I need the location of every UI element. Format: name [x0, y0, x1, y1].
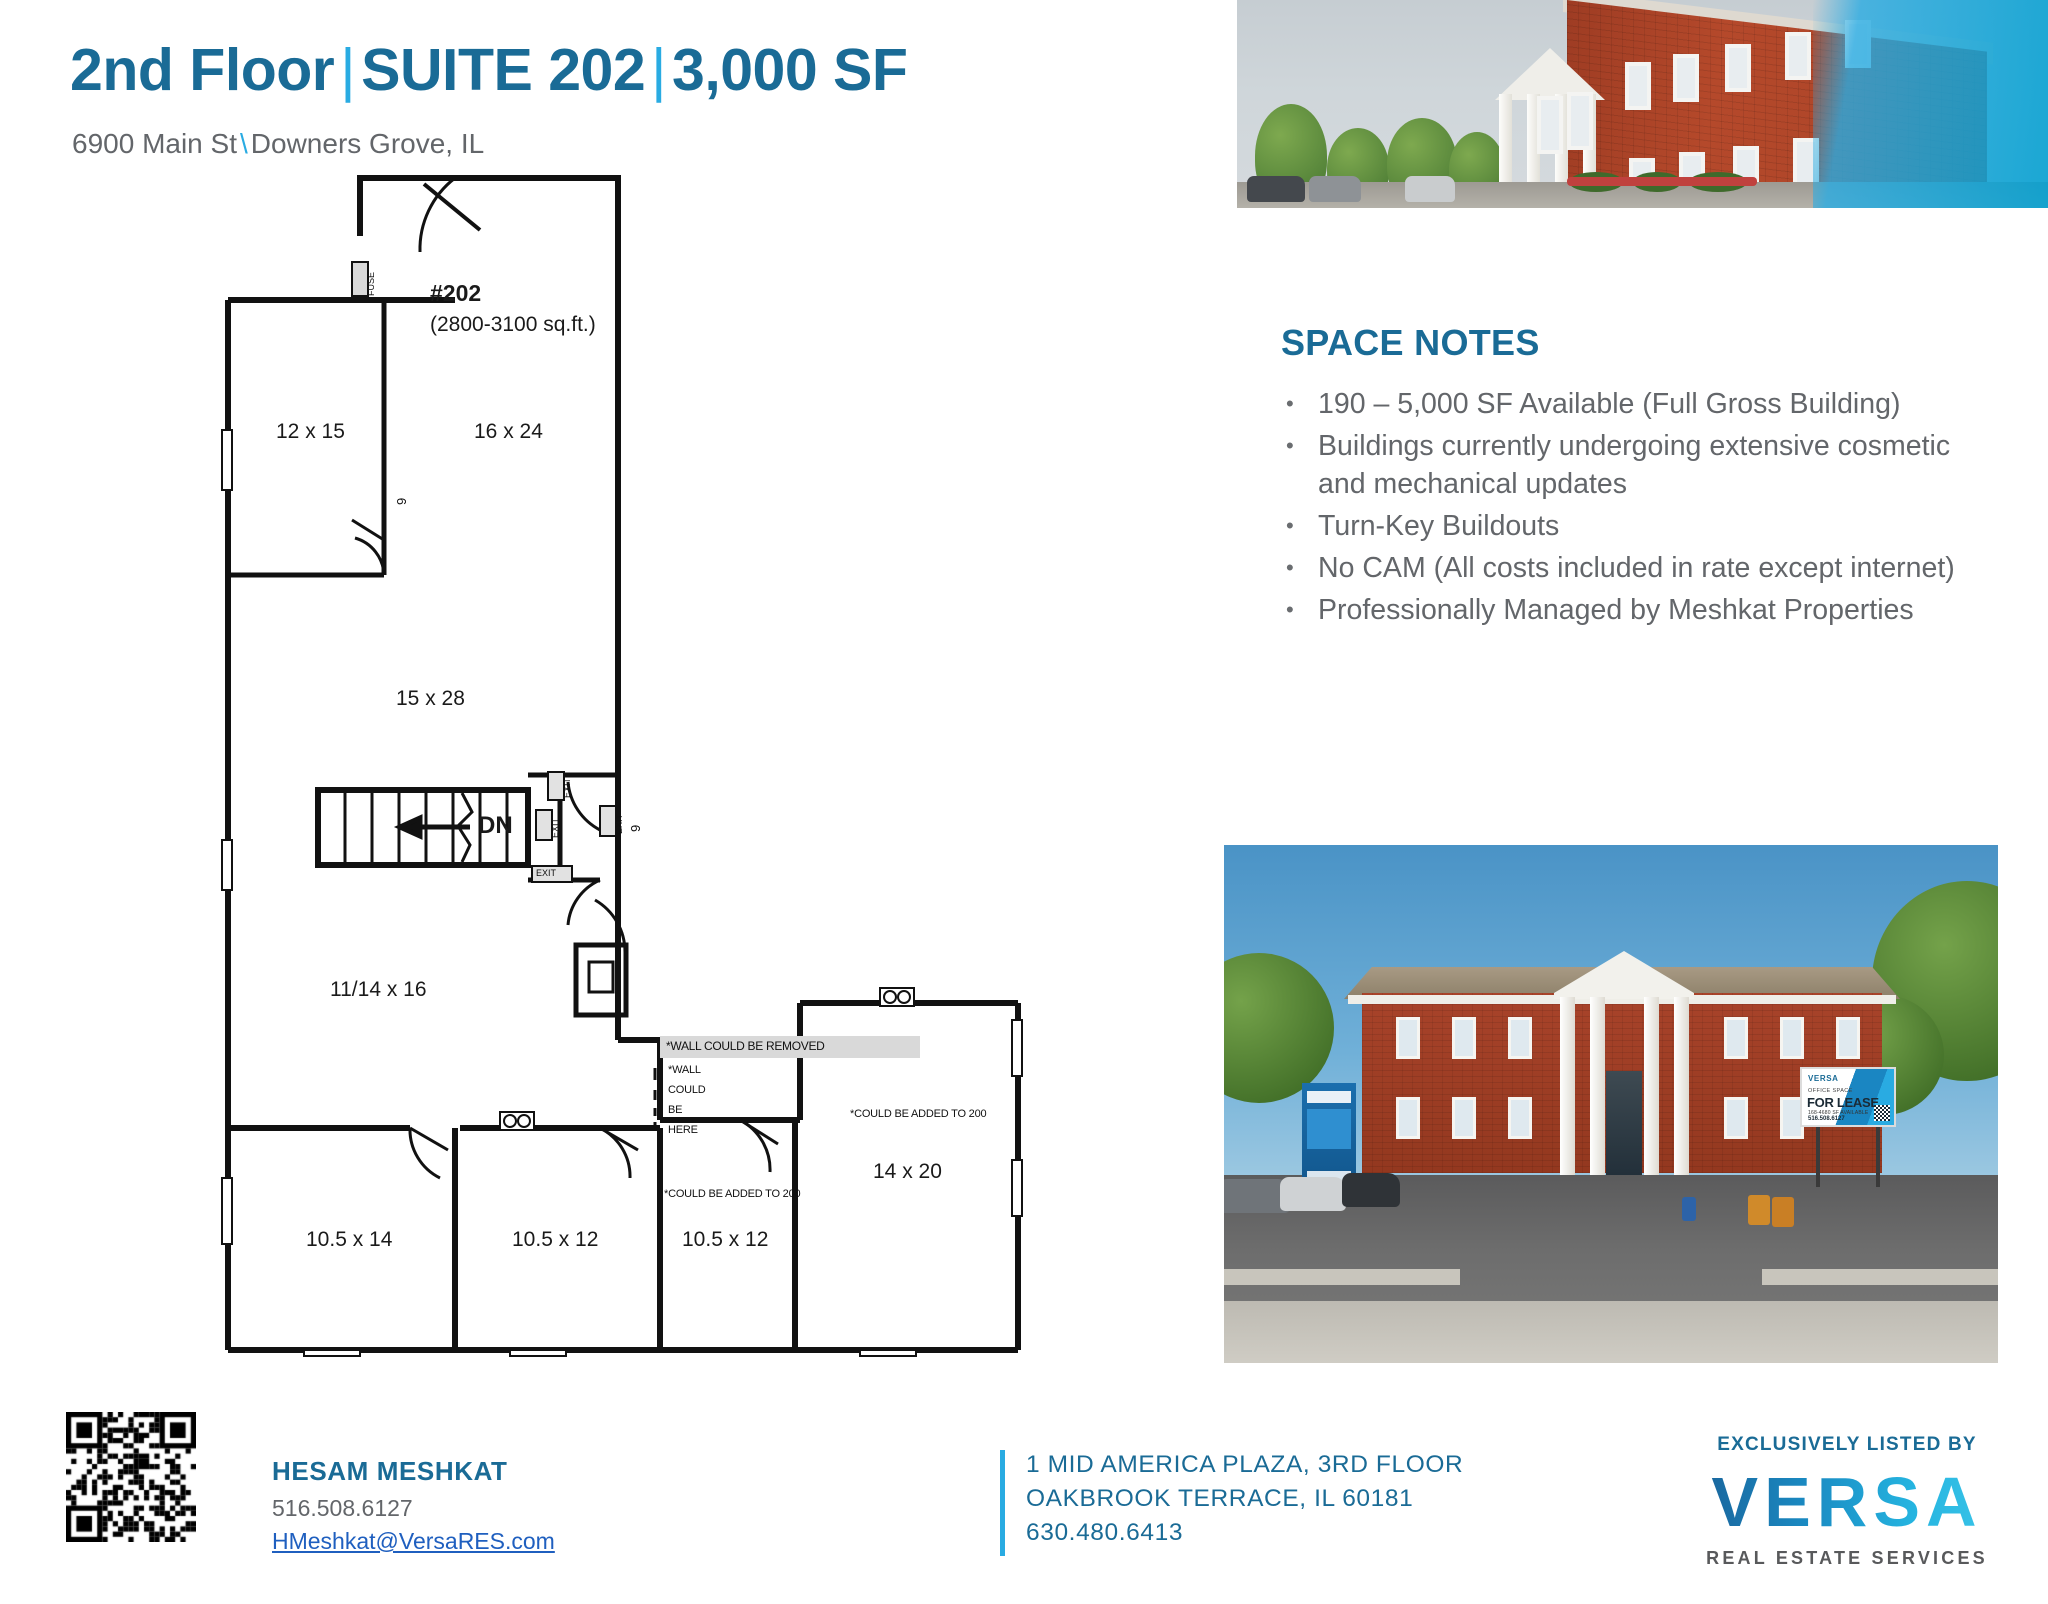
floor-plan-drawing	[0, 0, 1100, 1400]
window	[1452, 1017, 1476, 1059]
dimension-9-b: 9	[628, 825, 643, 832]
qr-code-icon	[1874, 1105, 1890, 1121]
window	[1724, 1097, 1748, 1139]
window	[1836, 1017, 1860, 1059]
sidewalk	[1224, 1301, 1998, 1363]
list-item: • Buildings currently undergoing extensi…	[1272, 427, 1962, 503]
note-text: Turn-Key Buildouts	[1318, 507, 1559, 545]
exit-label: EXIT	[614, 814, 624, 834]
window	[1567, 92, 1593, 150]
window	[1508, 1017, 1532, 1059]
contact-phone: 516.508.6127	[272, 1495, 413, 1522]
annotation-could-be-added-200-a: *COULD BE ADDED TO 200	[664, 1188, 800, 1200]
sign-post	[1876, 1123, 1880, 1187]
car	[1342, 1173, 1400, 1207]
note-text: Professionally Managed by Meshkat Proper…	[1318, 591, 1914, 629]
note-text: No CAM (All costs included in rate excep…	[1318, 549, 1955, 587]
sign-phone: 516.508.6127	[1808, 1116, 1845, 1122]
company-address: 1 MID AMERICA PLAZA, 3RD FLOOR OAKBROOK …	[1026, 1448, 1463, 1550]
column	[1674, 997, 1689, 1175]
list-item: • Professionally Managed by Meshkat Prop…	[1272, 591, 1962, 629]
list-item: • Turn-Key Buildouts	[1272, 507, 1962, 545]
window	[1785, 32, 1811, 80]
suite-number-label: #202	[430, 280, 481, 307]
space-notes-list: • 190 – 5,000 SF Available (Full Gross B…	[1272, 385, 1962, 633]
car	[1247, 176, 1305, 202]
room-label-12x15: 12 x 15	[276, 420, 345, 444]
window	[1780, 1017, 1804, 1059]
versa-tagline: REAL ESTATE SERVICES	[1682, 1548, 2012, 1569]
bullet-icon: •	[1272, 549, 1318, 587]
annotation-wall-could-be-removed: *WALL COULD BE REMOVED	[664, 1038, 827, 1054]
window	[1625, 62, 1651, 110]
car	[1280, 1177, 1346, 1211]
entrance-door	[1606, 1071, 1642, 1175]
suite-size-label: (2800-3100 sq.ft.)	[430, 313, 596, 337]
window	[1396, 1097, 1420, 1139]
window	[1508, 1097, 1532, 1139]
window	[1452, 1097, 1476, 1139]
pediment	[1554, 951, 1694, 999]
flyer-page: 2nd Floor|SUITE 202|3,000 SF 6900 Main S…	[0, 0, 2048, 1604]
sign-post	[1816, 1123, 1820, 1187]
portico	[1554, 951, 1694, 1173]
curb	[1224, 1269, 1460, 1285]
room-label-16x24: 16 x 24	[474, 420, 543, 444]
fuse-label: FUSE	[366, 272, 376, 296]
column	[1560, 997, 1575, 1175]
window	[1724, 1017, 1748, 1059]
list-item: • No CAM (All costs included in rate exc…	[1272, 549, 1962, 587]
sign-band	[1307, 1091, 1351, 1103]
column	[1590, 997, 1605, 1175]
column	[1644, 997, 1659, 1175]
contact-email-link[interactable]: HMeshkat@VersaRES.com	[272, 1528, 555, 1555]
annotation-wall: *WALL	[668, 1064, 701, 1076]
sign-panel	[1307, 1109, 1351, 1149]
exit-label: EXIT	[550, 818, 560, 838]
window	[1537, 96, 1563, 154]
floor-plan: #202 (2800-3100 sq.ft.) 12 x 15 16 x 24 …	[0, 0, 1100, 1400]
building-photo-top	[1237, 0, 2048, 208]
exit-label: EXIT	[536, 868, 556, 878]
flower-bed	[1567, 177, 1757, 186]
room-label-14x20: 14 x 20	[873, 1160, 942, 1184]
curb	[1762, 1269, 1998, 1285]
cyan-gradient-overlay	[1813, 0, 2048, 208]
annotation-here: HERE	[668, 1124, 698, 1136]
space-notes-heading: SPACE NOTES	[1281, 322, 1540, 364]
mailbox	[1748, 1195, 1770, 1225]
contact-name: HESAM MESHKAT	[272, 1456, 508, 1487]
stair-direction-arrow	[400, 818, 470, 836]
sign-for-lease: FOR LEASE	[1807, 1095, 1879, 1110]
annotation-be: BE	[668, 1104, 682, 1116]
for-lease-sign: VERSA OFFICE SPACE FOR LEASE 168-4680 SF…	[1800, 1067, 1896, 1127]
exclusively-listed-by-label: EXCLUSIVELY LISTED BY	[1682, 1434, 2012, 1456]
exit-sign-icon	[532, 772, 616, 882]
room-label-15x28: 15 x 28	[396, 687, 465, 711]
annotation-could-be-added-200-b: *COULD BE ADDED TO 200	[850, 1108, 986, 1120]
bullet-icon: •	[1272, 507, 1318, 545]
car	[1405, 176, 1455, 202]
window	[1673, 54, 1699, 102]
list-item: • 190 – 5,000 SF Available (Full Gross B…	[1272, 385, 1962, 423]
sign-brand: VERSA	[1808, 1074, 1839, 1083]
exit-label: EXIT	[562, 778, 572, 798]
qr-code[interactable]	[66, 1412, 196, 1542]
window	[1725, 44, 1751, 92]
room-label-11-14x16: 11/14 x 16	[330, 978, 427, 1002]
address-line-2: OAKBROOK TERRACE, IL 60181	[1026, 1482, 1463, 1516]
address-line-1: 1 MID AMERICA PLAZA, 3RD FLOOR	[1026, 1448, 1463, 1482]
address-accent-bar	[1000, 1450, 1005, 1556]
building-photo-bottom: VERSA OFFICE SPACE FOR LEASE 168-4680 SF…	[1224, 845, 1998, 1363]
room-label-10.5x12-b: 10.5 x 12	[682, 1228, 768, 1252]
room-label-10.5x14: 10.5 x 14	[306, 1228, 392, 1252]
utility-box	[1682, 1197, 1696, 1221]
address-phone: 630.480.6413	[1026, 1516, 1463, 1550]
versa-logo: VERSA	[1682, 1462, 2012, 1542]
annotation-could: COULD	[668, 1084, 706, 1096]
bullet-icon: •	[1272, 427, 1318, 465]
bullet-icon: •	[1272, 385, 1318, 423]
stair-direction-label: DN	[478, 812, 513, 840]
mailbox	[1772, 1197, 1794, 1227]
room-label-10.5x12-a: 10.5 x 12	[512, 1228, 598, 1252]
dimension-9-a: 9	[394, 498, 409, 505]
note-text: Buildings currently undergoing extensive…	[1318, 427, 1962, 503]
sign-office-space: OFFICE SPACE	[1808, 1088, 1853, 1094]
car	[1309, 176, 1361, 202]
window	[1396, 1017, 1420, 1059]
bullet-icon: •	[1272, 591, 1318, 629]
note-text: 190 – 5,000 SF Available (Full Gross Bui…	[1318, 385, 1900, 423]
